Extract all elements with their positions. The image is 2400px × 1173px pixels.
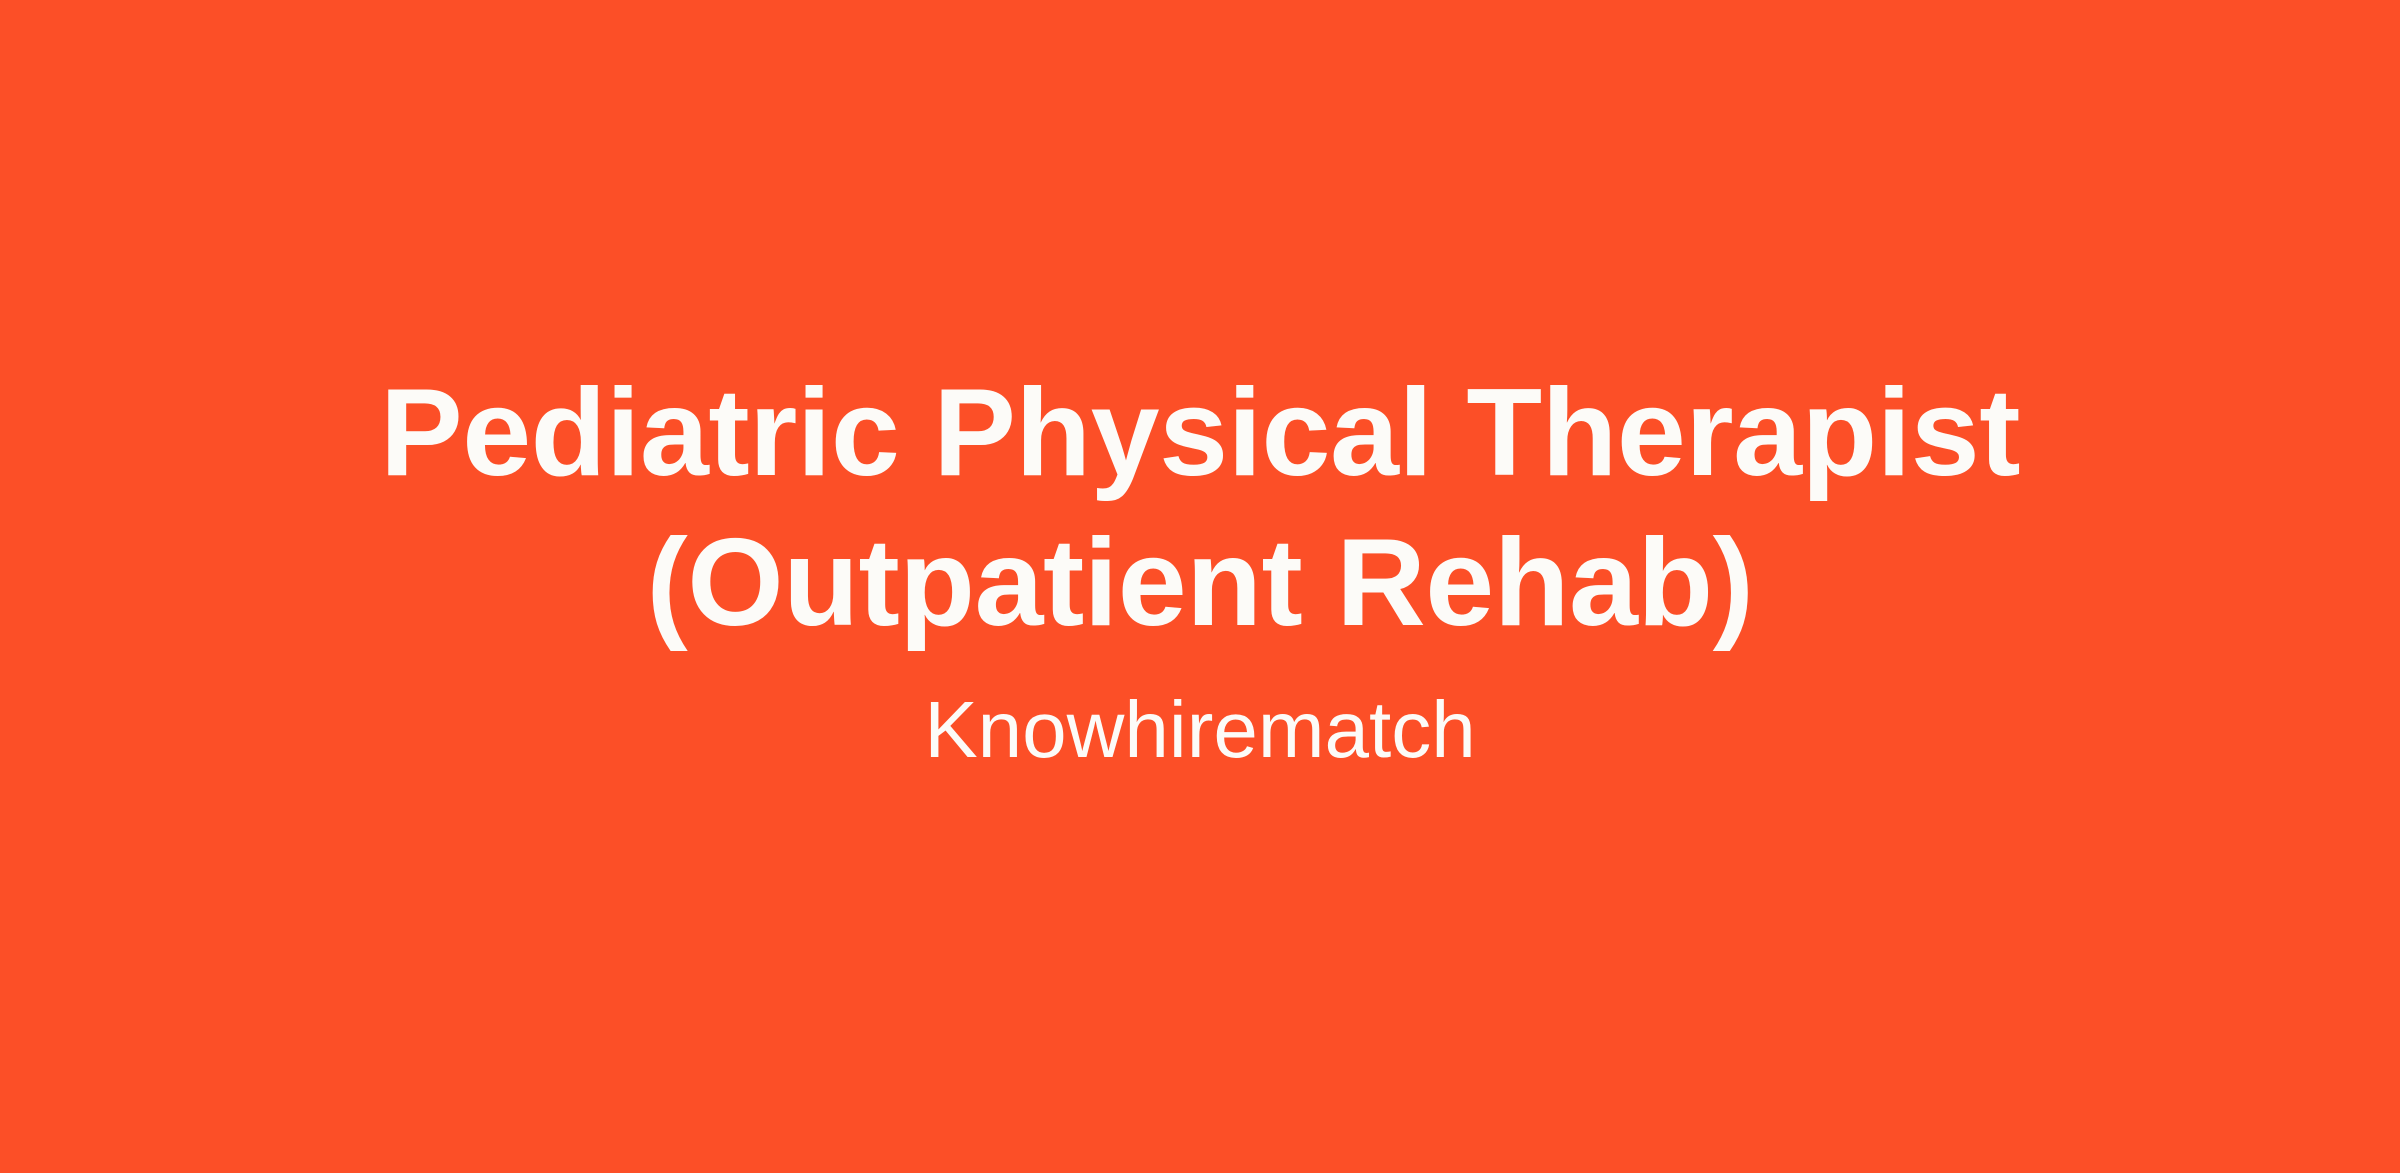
page-title: Pediatric Physical Therapist (Outpatient…	[380, 358, 2020, 658]
job-title-line-1: Pediatric Physical Therapist	[380, 358, 2020, 508]
company-name: Knowhirematch	[924, 684, 1475, 776]
banner-content-block: Pediatric Physical Therapist (Outpatient…	[200, 358, 2200, 776]
job-posting-banner: Pediatric Physical Therapist (Outpatient…	[0, 0, 2400, 1173]
job-title-line-2: (Outpatient Rehab)	[380, 508, 2020, 658]
